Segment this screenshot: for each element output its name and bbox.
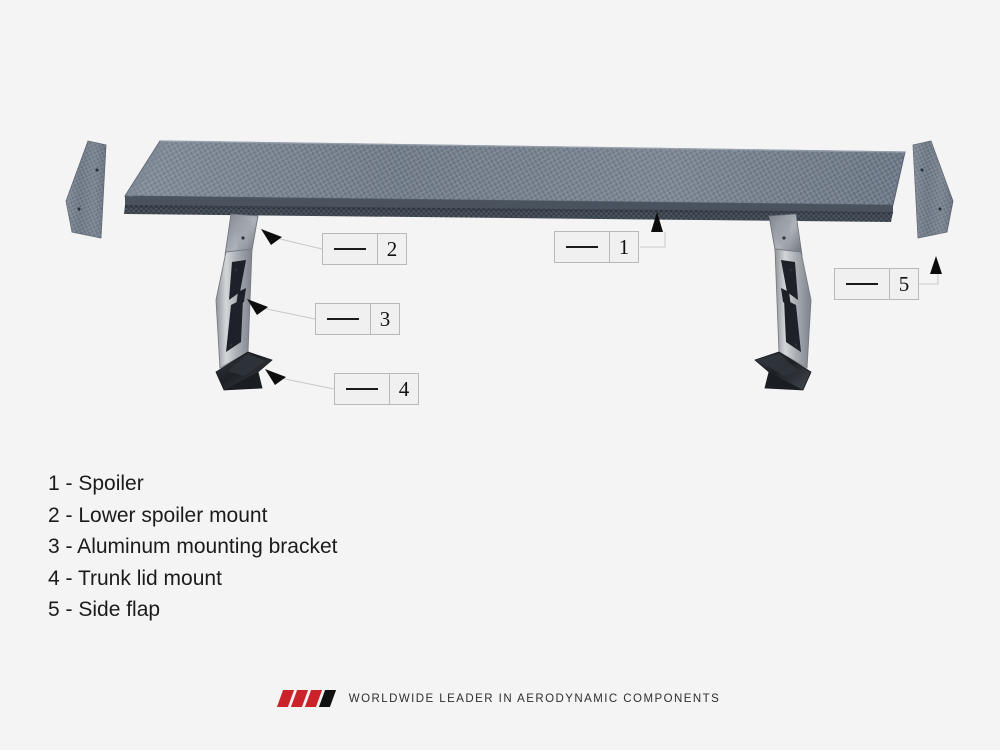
- legend-item-1: 1 - Spoiler: [48, 468, 337, 500]
- callout-box-3[interactable]: 3: [315, 303, 400, 335]
- diagram-stage: 1 2 3 4 5 1 - Spoiler 2 - Lower spoiler …: [0, 0, 1000, 750]
- side-flap-right: [913, 141, 953, 238]
- callout-number-3: 3: [371, 304, 399, 334]
- callout-dash-4: [335, 374, 390, 404]
- callout-box-4[interactable]: 4: [334, 373, 419, 405]
- callout-box-2[interactable]: 2: [322, 233, 407, 265]
- parts-legend: 1 - Spoiler 2 - Lower spoiler mount 3 - …: [48, 468, 337, 626]
- callout-box-5[interactable]: 5: [834, 268, 919, 300]
- chevron-bars-logo-icon: [280, 690, 336, 707]
- callout-number-5: 5: [890, 269, 918, 299]
- footer-branding: WORLDWIDE LEADER IN AERODYNAMIC COMPONEN…: [0, 690, 1000, 707]
- callout-dash-5: [835, 269, 890, 299]
- spoiler-illustration: [0, 0, 1000, 750]
- callout-dash-2: [323, 234, 378, 264]
- callout-dash-3: [316, 304, 371, 334]
- callout-number-1: 1: [610, 232, 638, 262]
- callout-number-4: 4: [390, 374, 418, 404]
- callout-box-1[interactable]: 1: [554, 231, 639, 263]
- aluminum-mounting-bracket-right: [775, 249, 811, 368]
- legend-item-3: 3 - Aluminum mounting bracket: [48, 531, 337, 563]
- callout-dash-1: [555, 232, 610, 262]
- legend-item-4: 4 - Trunk lid mount: [48, 563, 337, 595]
- logo-bar-4: [319, 690, 336, 707]
- spoiler-wing: [124, 141, 905, 222]
- aluminum-mounting-bracket-left: [216, 249, 252, 368]
- legend-item-2: 2 - Lower spoiler mount: [48, 500, 337, 532]
- footer-tagline: WORLDWIDE LEADER IN AERODYNAMIC COMPONEN…: [349, 693, 720, 705]
- side-flap-left: [66, 141, 106, 238]
- callout-number-2: 2: [378, 234, 406, 264]
- legend-item-5: 5 - Side flap: [48, 594, 337, 626]
